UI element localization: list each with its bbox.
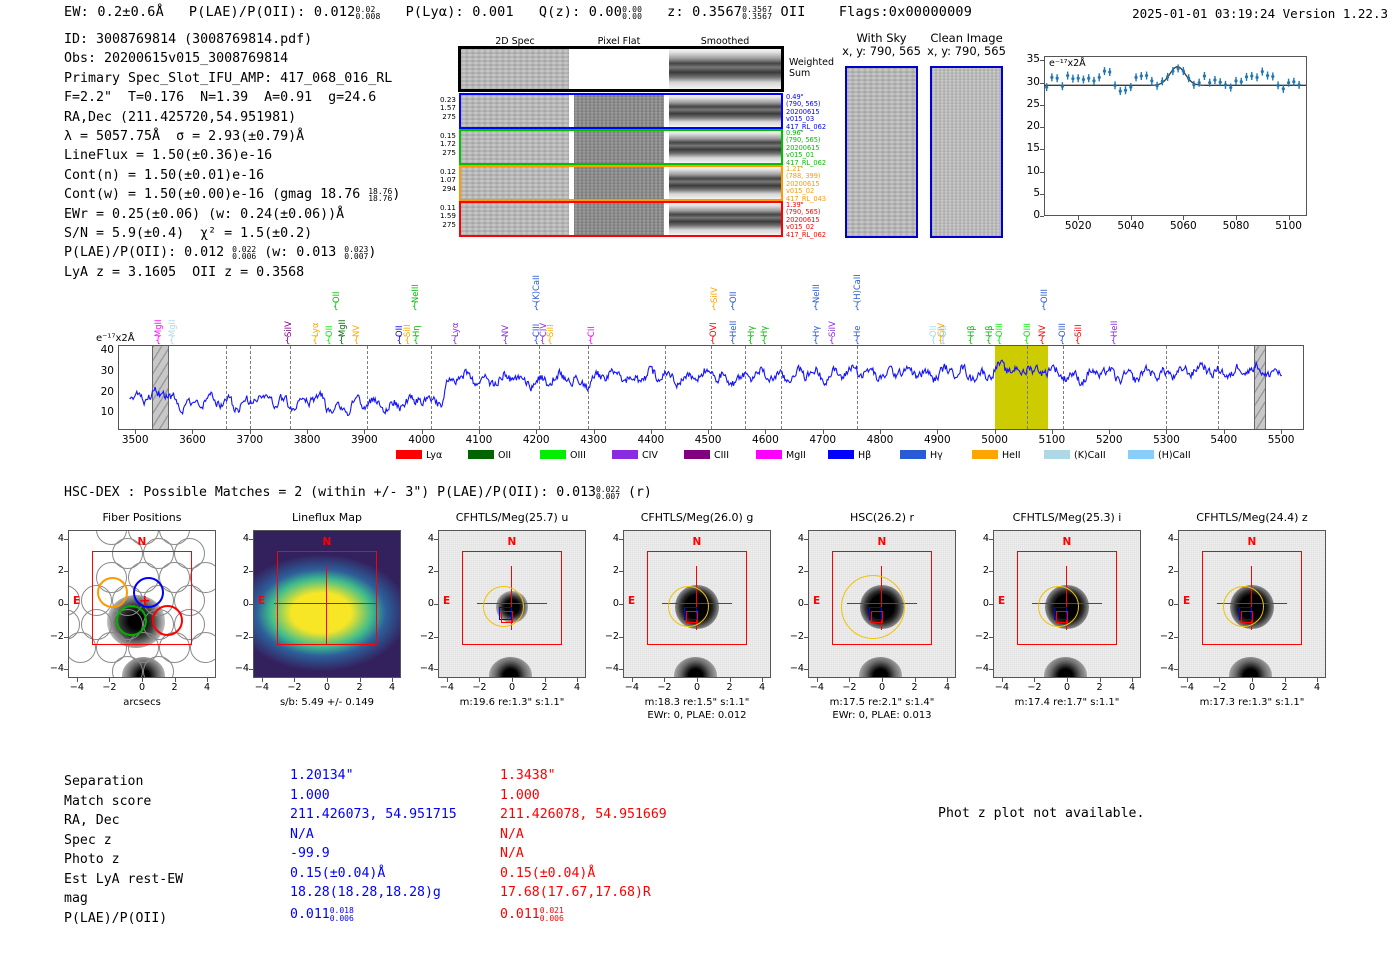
cutout-y-tick-mark[interactable]: [804, 539, 808, 540]
spectrum-line-brace[interactable]: {: [1075, 337, 1081, 346]
cutout-x-tick-mark[interactable]: [947, 678, 948, 682]
cutout-y-tick[interactable]: 2: [969, 565, 989, 576]
cutout-x-tick-mark[interactable]: [817, 678, 818, 682]
pixel-flat-image[interactable]: [574, 203, 664, 235]
match-marker-red[interactable]: [1056, 611, 1068, 623]
cutout-x-tick[interactable]: −2: [837, 682, 861, 693]
cutout-y-tick[interactable]: −4: [1154, 663, 1174, 674]
cutout-y-tick-mark[interactable]: [64, 669, 68, 670]
x-tick-mark[interactable]: [307, 430, 308, 434]
cutout-x-tick[interactable]: −2: [97, 682, 121, 693]
cutout-y-tick[interactable]: 2: [784, 565, 804, 576]
x-tick-mark[interactable]: [479, 430, 480, 434]
cutout-x-tick[interactable]: −2: [282, 682, 306, 693]
spec2d-row-stats[interactable]: 0.15 1.72 275: [426, 132, 456, 157]
cutout-x-tick-mark[interactable]: [512, 678, 513, 682]
cutout-x-tick[interactable]: 2: [1273, 682, 1297, 693]
x-tick-label[interactable]: 4800: [854, 434, 906, 446]
cutout-x-tick-mark[interactable]: [545, 678, 546, 682]
compass-east[interactable]: E: [258, 595, 265, 607]
pixel-flat-image[interactable]: [574, 95, 664, 127]
spectrum-line-brace[interactable]: {: [312, 337, 318, 346]
match-table-col2-value[interactable]: 211.426078, 54.951669: [500, 805, 667, 825]
cutout-x-tick[interactable]: 0: [685, 682, 709, 693]
spectrum-line-brace[interactable]: {: [938, 337, 944, 346]
x-tick-mark[interactable]: [765, 430, 766, 434]
y-tick-label[interactable]: 5: [1018, 187, 1040, 199]
match-table-col1-value[interactable]: N/A: [290, 825, 314, 845]
spectrum-line-brace[interactable]: {: [968, 337, 974, 346]
cutout-x-tick[interactable]: 4: [195, 682, 219, 693]
x-tick-mark[interactable]: [995, 430, 996, 434]
compass-north[interactable]: N: [323, 536, 332, 548]
x-tick-label[interactable]: 4400: [625, 434, 677, 446]
compass-east[interactable]: E: [73, 595, 80, 607]
cutout-x-tick[interactable]: −4: [1175, 682, 1199, 693]
smoothed-image[interactable]: [669, 203, 781, 235]
cutout-x-tick[interactable]: 0: [870, 682, 894, 693]
info-line[interactable]: EWr = 0.25(±0.06) (w: 0.24(±0.06))Å: [64, 205, 400, 224]
spec2d-row-stats[interactable]: 0.23 1.57 275: [426, 96, 456, 121]
cutout-x-tick[interactable]: 0: [1055, 682, 1079, 693]
cutout-x-tick-mark[interactable]: [327, 678, 328, 682]
match-table-col2-value[interactable]: N/A: [500, 844, 524, 864]
spectrum-line-label[interactable]: Hη: [412, 291, 420, 337]
info-line[interactable]: LyA z = 3.1605 OII z = 0.3568: [64, 263, 400, 282]
x-tick-mark[interactable]: [651, 430, 652, 434]
cutout-y-tick[interactable]: 4: [969, 533, 989, 544]
cutout-x-tick-mark[interactable]: [1002, 678, 1003, 682]
cutout-y-tick[interactable]: −2: [599, 631, 619, 642]
cutout-y-tick[interactable]: 2: [1154, 565, 1174, 576]
match-table-label[interactable]: Match score: [64, 792, 151, 812]
pixel-flat-image[interactable]: [574, 131, 664, 163]
x-tick-mark[interactable]: [823, 430, 824, 434]
cutout-y-tick[interactable]: 2: [229, 565, 249, 576]
cutout-x-tick[interactable]: −2: [1022, 682, 1046, 693]
spectrum-legend-item[interactable]: Hγ: [900, 450, 943, 461]
info-line[interactable]: RA,Dec (211.425720,54.951981): [64, 108, 400, 127]
x-tick-mark[interactable]: [1183, 216, 1184, 220]
info-line[interactable]: LineFlux = 1.50(±0.36)e-16: [64, 146, 400, 165]
x-tick-label[interactable]: 3600: [166, 434, 218, 446]
cutout-x-tick[interactable]: 0: [500, 682, 524, 693]
x-tick-mark[interactable]: [1166, 430, 1167, 434]
x-tick-label[interactable]: 5300: [1140, 434, 1192, 446]
cutout-y-tick[interactable]: 4: [784, 533, 804, 544]
cutout-x-tick-mark[interactable]: [849, 678, 850, 682]
spectrum-line-label[interactable]: Hγ: [812, 291, 820, 337]
y-tick-label[interactable]: 30: [90, 365, 114, 377]
spectrum-line-label[interactable]: Hβ: [985, 291, 993, 337]
spectrum-legend-item[interactable]: CIV: [612, 450, 658, 461]
spectrum-line-label[interactable]: CII: [587, 291, 595, 337]
cutout-y-tick[interactable]: 2: [599, 565, 619, 576]
spec2d-image[interactable]: [461, 95, 569, 127]
match-table-col2-plae[interactable]: 0.0110.0210.006: [500, 905, 564, 925]
match-marker-red[interactable]: [686, 611, 698, 623]
cutout-y-tick-mark[interactable]: [64, 539, 68, 540]
spectrum-line-brace[interactable]: {: [353, 337, 359, 346]
spectrum-line-label[interactable]: OIII: [995, 291, 1003, 337]
cutout-x-tick-mark[interactable]: [1187, 678, 1188, 682]
x-tick-mark[interactable]: [1236, 216, 1237, 220]
x-tick-label[interactable]: 4200: [510, 434, 562, 446]
spectrum-line-brace[interactable]: {: [285, 337, 291, 346]
cutout-frame[interactable]: [623, 530, 771, 678]
x-tick-mark[interactable]: [1131, 216, 1132, 220]
spec2d-image[interactable]: [461, 203, 569, 235]
cutout-sublabel[interactable]: m:17.3 re:1.3" s:1.1": [1138, 696, 1366, 709]
cutout-y-tick-mark[interactable]: [434, 669, 438, 670]
cutout-x-tick[interactable]: 0: [130, 682, 154, 693]
cutout-y-tick-mark[interactable]: [434, 637, 438, 638]
spectrum-line-label[interactable]: MgII: [154, 291, 162, 337]
cutout-x-tick[interactable]: −4: [805, 682, 829, 693]
sky-panel-title[interactable]: Clean Imagex, y: 790, 565: [910, 32, 1023, 58]
spectrum-line-brace[interactable]: {: [813, 337, 819, 346]
cutout-y-tick[interactable]: 0: [599, 598, 619, 609]
x-tick-label[interactable]: 4900: [911, 434, 963, 446]
crosshair-vertical[interactable]: [326, 566, 327, 645]
spectrum-line-brace[interactable]: {: [986, 337, 992, 346]
cutout-y-tick[interactable]: 0: [784, 598, 804, 609]
cutout-y-tick[interactable]: 4: [599, 533, 619, 544]
cutout-frame[interactable]: [438, 530, 586, 678]
cutout-x-tick-mark[interactable]: [447, 678, 448, 682]
info-line[interactable]: Primary Spec_Slot_IFU_AMP: 417_068_016_R…: [64, 69, 400, 88]
spectrum-line-brace[interactable]: {: [761, 337, 767, 346]
x-tick-label[interactable]: 3800: [281, 434, 333, 446]
cutout-y-tick-mark[interactable]: [249, 669, 253, 670]
spectrum-line-brace[interactable]: {: [396, 337, 402, 346]
spectrum-line-label[interactable]: NV: [501, 291, 509, 337]
cutout-y-tick-mark[interactable]: [989, 604, 993, 605]
x-tick-mark[interactable]: [1289, 216, 1290, 220]
x-tick-label[interactable]: 5000: [969, 434, 1021, 446]
match-table-col2-value[interactable]: 0.15(±0.04)Å: [500, 864, 595, 884]
spectrum-line-brace[interactable]: {: [710, 337, 716, 346]
spectrum-legend-item[interactable]: OIII: [540, 450, 586, 461]
x-tick-mark[interactable]: [1281, 430, 1282, 434]
cutout-x-tick[interactable]: 2: [163, 682, 187, 693]
x-tick-mark[interactable]: [364, 430, 365, 434]
spectrum-line-brace[interactable]: {: [588, 337, 594, 346]
spectrum-line-brace[interactable]: {: [748, 337, 754, 346]
compass-north[interactable]: N: [878, 536, 887, 548]
match-table-label[interactable]: mag: [64, 889, 88, 909]
match-table-label[interactable]: P(LAE)/P(OII): [64, 909, 167, 929]
cutout-x-tick-mark[interactable]: [697, 678, 698, 682]
pixel-flat-image[interactable]: [574, 167, 664, 199]
spectrum-line-label[interactable]: NV: [1038, 291, 1046, 337]
cutout-y-tick[interactable]: −4: [599, 663, 619, 674]
cutout-y-tick-mark[interactable]: [1174, 604, 1178, 605]
cutout-y-tick-mark[interactable]: [249, 571, 253, 572]
match-table-col1-value[interactable]: 0.15(±0.04)Å: [290, 864, 385, 884]
cutout-x-tick-mark[interactable]: [1219, 678, 1220, 682]
spectrum-line-brace[interactable]: {: [829, 337, 835, 346]
cutout-y-tick[interactable]: 0: [414, 598, 434, 609]
info-line[interactable]: F=2.2" T=0.176 N=1.39 A=0.91 g=24.6: [64, 88, 400, 107]
spectrum-line-label[interactable]: OIII: [1023, 291, 1031, 337]
cutout-y-tick[interactable]: −4: [414, 663, 434, 674]
spectrum-line-brace[interactable]: {: [404, 337, 410, 346]
y-tick-label[interactable]: 40: [90, 344, 114, 356]
cutout-frame[interactable]: [1178, 530, 1326, 678]
smoothed-image[interactable]: [669, 95, 781, 127]
spec2d-image[interactable]: [461, 131, 569, 163]
cutout-x-tick[interactable]: 2: [533, 682, 557, 693]
cutout-y-tick[interactable]: −2: [784, 631, 804, 642]
smoothed-image[interactable]: [669, 131, 781, 163]
y-tick-label[interactable]: 30: [1018, 76, 1040, 88]
match-table-label[interactable]: RA, Dec: [64, 811, 120, 831]
cutout-x-tick[interactable]: 4: [1120, 682, 1144, 693]
x-tick-label[interactable]: 4500: [682, 434, 734, 446]
match-table-label[interactable]: Separation: [64, 772, 143, 792]
cutout-y-tick[interactable]: −2: [229, 631, 249, 642]
cutout-x-tick-mark[interactable]: [479, 678, 480, 682]
spectrum-line-label[interactable]: Hγ: [747, 291, 755, 337]
spectrum-line-brace[interactable]: {: [1024, 337, 1030, 346]
spectrum-line-label[interactable]: HeII: [729, 291, 737, 337]
spectrum-legend-item[interactable]: CIII: [684, 450, 729, 461]
spectrum-line-label[interactable]: SiII: [546, 291, 554, 337]
info-line[interactable]: λ = 5057.75Å σ = 2.93(±0.79)Å: [64, 127, 400, 146]
y-tick-label[interactable]: 20: [1018, 120, 1040, 132]
x-tick-mark[interactable]: [422, 430, 423, 434]
match-table-col1-value[interactable]: 211.426073, 54.951715: [290, 805, 457, 825]
match-table-col1-value[interactable]: -99.9: [290, 844, 330, 864]
spectrum-line-brace[interactable]: {: [930, 337, 936, 346]
cutout-y-tick[interactable]: −2: [969, 631, 989, 642]
cutout-x-tick[interactable]: 0: [1240, 682, 1264, 693]
cutout-y-tick-mark[interactable]: [1174, 669, 1178, 670]
x-tick-label[interactable]: 5040: [1109, 220, 1153, 232]
cutout-x-tick-mark[interactable]: [577, 678, 578, 682]
x-tick-label[interactable]: 3900: [338, 434, 390, 446]
cutout-y-tick-mark[interactable]: [989, 571, 993, 572]
spec2d-row-meta[interactable]: 0.96" (790, 565) 20200615 v015_01 417_RL…: [786, 130, 826, 167]
cutout-y-tick-mark[interactable]: [804, 637, 808, 638]
cutout-y-tick-mark[interactable]: [804, 669, 808, 670]
cutout-y-tick[interactable]: −2: [44, 631, 64, 642]
match-table-col1-plae[interactable]: 0.0110.0180.006: [290, 905, 354, 925]
spectrum-line-brace[interactable]: {: [1059, 337, 1065, 346]
spectrum-line-brace[interactable]: {: [169, 337, 175, 346]
cutout-x-tick-mark[interactable]: [207, 678, 208, 682]
spec2d-row-stats[interactable]: 0.11 1.59 275: [426, 204, 456, 229]
cutout-x-tick[interactable]: −4: [250, 682, 274, 693]
compass-north[interactable]: N: [1063, 536, 1072, 548]
cutout-x-tick[interactable]: −2: [467, 682, 491, 693]
cutout-y-tick[interactable]: 2: [44, 565, 64, 576]
aperture-box[interactable]: [277, 551, 376, 644]
cutout-y-tick-mark[interactable]: [989, 669, 993, 670]
info-line[interactable]: Obs: 20200615v015_3008769814: [64, 49, 400, 68]
spectrum-legend-item[interactable]: (H)CaII: [1128, 450, 1191, 461]
x-tick-mark[interactable]: [135, 430, 136, 434]
cutout-y-tick-mark[interactable]: [434, 539, 438, 540]
cutout-x-tick-mark[interactable]: [142, 678, 143, 682]
cutout-y-tick-mark[interactable]: [989, 539, 993, 540]
match-table-label[interactable]: Photo z: [64, 850, 120, 870]
cutout-y-tick[interactable]: 4: [44, 533, 64, 544]
spectrum-line-label[interactable]: Hγ: [760, 291, 768, 337]
y-tick-mark[interactable]: [1040, 216, 1044, 217]
x-tick-mark[interactable]: [880, 430, 881, 434]
spectrum-line-label[interactable]: OIII: [1058, 291, 1066, 337]
spectrum-line-brace[interactable]: {: [452, 337, 458, 346]
cutout-y-tick[interactable]: 0: [969, 598, 989, 609]
cutout-x-tick-mark[interactable]: [1285, 678, 1286, 682]
spec2d-image[interactable]: [461, 167, 569, 199]
cutout-x-tick[interactable]: 4: [565, 682, 589, 693]
spectrum-line-brace[interactable]: {: [547, 337, 553, 346]
cutout-y-tick-mark[interactable]: [619, 604, 623, 605]
x-tick-label[interactable]: 5100: [1026, 434, 1078, 446]
cutout-y-tick-mark[interactable]: [64, 637, 68, 638]
crosshair-horizontal[interactable]: [274, 603, 376, 604]
spectrum-line-label[interactable]: SiIV: [284, 291, 292, 337]
spectrum-line-label[interactable]: SiII: [1074, 291, 1082, 337]
x-tick-label[interactable]: 3700: [224, 434, 276, 446]
spectrum-legend-item[interactable]: OII: [468, 450, 511, 461]
spectrum-line-label[interactable]: OVI: [709, 291, 717, 337]
compass-north[interactable]: N: [693, 536, 702, 548]
compass-east[interactable]: E: [813, 595, 820, 607]
cutout-x-tick[interactable]: 4: [380, 682, 404, 693]
cutout-x-tick[interactable]: −2: [1207, 682, 1231, 693]
spectrum-line-label[interactable]: Lyα: [311, 291, 319, 337]
cutout-y-tick-mark[interactable]: [249, 604, 253, 605]
x-tick-mark[interactable]: [1078, 216, 1079, 220]
y-tick-label[interactable]: 35: [1018, 53, 1040, 65]
cutout-x-tick-mark[interactable]: [109, 678, 110, 682]
cutout-x-tick-mark[interactable]: [360, 678, 361, 682]
cutout-x-tick-mark[interactable]: [1034, 678, 1035, 682]
cutout-y-tick-mark[interactable]: [619, 571, 623, 572]
compass-east[interactable]: E: [998, 595, 1005, 607]
cutout-x-tick[interactable]: −4: [435, 682, 459, 693]
cutout-frame[interactable]: [253, 530, 401, 678]
spectrum-line-brace[interactable]: {: [155, 337, 161, 346]
cutout-x-tick-mark[interactable]: [294, 678, 295, 682]
cutout-x-tick-mark[interactable]: [392, 678, 393, 682]
spectrum-line-brace[interactable]: {: [413, 337, 419, 346]
spectrum-line-brace[interactable]: {: [339, 337, 345, 346]
cutout-y-tick[interactable]: 4: [414, 533, 434, 544]
x-tick-mark[interactable]: [1109, 430, 1110, 434]
spectrum-line-label[interactable]: SiIV: [828, 291, 836, 337]
cutout-x-tick[interactable]: 4: [750, 682, 774, 693]
spectrum-line-brace[interactable]: {: [1039, 337, 1045, 346]
cutout-y-tick-mark[interactable]: [434, 571, 438, 572]
cutout-x-tick[interactable]: 2: [903, 682, 927, 693]
cutout-y-tick-mark[interactable]: [1174, 539, 1178, 540]
info-line[interactable]: S/N = 5.9(±0.4) χ² = 1.5(±0.2): [64, 224, 400, 243]
y-tick-label[interactable]: 10: [90, 406, 114, 418]
x-tick-label[interactable]: 4700: [797, 434, 849, 446]
cutout-x-tick-mark[interactable]: [262, 678, 263, 682]
x-tick-label[interactable]: 4600: [739, 434, 791, 446]
cutout-y-tick[interactable]: 0: [229, 598, 249, 609]
y-tick-label[interactable]: 0: [1018, 209, 1040, 221]
match-marker-red[interactable]: [501, 611, 513, 623]
spectrum-line-label[interactable]: He: [853, 291, 861, 337]
spectrum-legend-item[interactable]: HeII: [972, 450, 1021, 461]
cutout-y-tick-mark[interactable]: [989, 637, 993, 638]
cutout-x-tick-mark[interactable]: [762, 678, 763, 682]
cutout-x-tick-mark[interactable]: [1132, 678, 1133, 682]
x-tick-mark[interactable]: [1224, 430, 1225, 434]
spec2d-row-meta[interactable]: 0.49" (790, 565) 20200615 v015_03 417_RL…: [786, 94, 826, 131]
cutout-y-tick-mark[interactable]: [1174, 637, 1178, 638]
cutout-x-tick[interactable]: −4: [65, 682, 89, 693]
cutout-x-tick[interactable]: 2: [718, 682, 742, 693]
match-marker-red[interactable]: [871, 611, 883, 623]
compass-east[interactable]: E: [1183, 595, 1190, 607]
x-tick-label[interactable]: 5500: [1255, 434, 1307, 446]
cutout-title[interactable]: CFHTLS/Meg(24.4) z: [1138, 511, 1366, 524]
spectrum-line-label[interactable]: NV: [352, 291, 360, 337]
x-tick-mark[interactable]: [594, 430, 595, 434]
sky-image[interactable]: [845, 66, 918, 238]
cutout-y-tick[interactable]: −4: [784, 663, 804, 674]
weighted-sum-label[interactable]: Weighted Sum: [789, 57, 834, 79]
cutout-y-tick-mark[interactable]: [249, 539, 253, 540]
y-tick-label[interactable]: 10: [1018, 165, 1040, 177]
cutout-y-tick-mark[interactable]: [64, 571, 68, 572]
cutout-x-tick-mark[interactable]: [632, 678, 633, 682]
cutout-x-tick-mark[interactable]: [1100, 678, 1101, 682]
cutout-y-tick[interactable]: −2: [414, 631, 434, 642]
cutout-frame[interactable]: [993, 530, 1141, 678]
cutout-y-tick-mark[interactable]: [804, 604, 808, 605]
x-tick-label[interactable]: 3500: [109, 434, 161, 446]
match-table-label[interactable]: Est LyA rest-EW: [64, 870, 183, 890]
x-tick-mark[interactable]: [1052, 430, 1053, 434]
weighted-sum-smoothed[interactable]: [669, 49, 781, 89]
spectrum-legend-item[interactable]: MgII: [756, 450, 806, 461]
cutout-frame[interactable]: [808, 530, 956, 678]
units-annotation[interactable]: e⁻¹⁷x2Å: [96, 333, 135, 344]
compass-east[interactable]: E: [443, 595, 450, 607]
aperture-box[interactable]: [92, 551, 191, 644]
weighted-sum-pixelflat[interactable]: [574, 49, 664, 89]
cutout-y-tick[interactable]: 4: [229, 533, 249, 544]
spectrum-legend-item[interactable]: Lyα: [396, 450, 442, 461]
cutout-frame[interactable]: +: [68, 530, 216, 678]
x-tick-mark[interactable]: [708, 430, 709, 434]
cutout-y-tick-mark[interactable]: [619, 539, 623, 540]
spectrum-line-brace[interactable]: {: [854, 337, 860, 346]
info-line[interactable]: ID: 3008769814 (3008769814.pdf): [64, 30, 400, 49]
x-tick-label[interactable]: 4300: [568, 434, 620, 446]
match-table-col2-value[interactable]: 1.3438": [500, 766, 556, 786]
cutout-x-tick[interactable]: 4: [1305, 682, 1329, 693]
match-table-col1-value[interactable]: 1.000: [290, 786, 330, 806]
spectrum-line-label[interactable]: MgII: [338, 291, 346, 337]
spectrum-line-brace[interactable]: {: [502, 337, 508, 346]
info-line[interactable]: Cont(w) = 1.50(±0.00)e-16 (gmag 18.76 18…: [64, 185, 400, 204]
cutout-x-tick-mark[interactable]: [915, 678, 916, 682]
y-tick-label[interactable]: 25: [1018, 98, 1040, 110]
fiber-circle[interactable]: [190, 632, 216, 663]
cutout-y-tick[interactable]: −4: [44, 663, 64, 674]
y-tick-label[interactable]: 20: [90, 386, 114, 398]
